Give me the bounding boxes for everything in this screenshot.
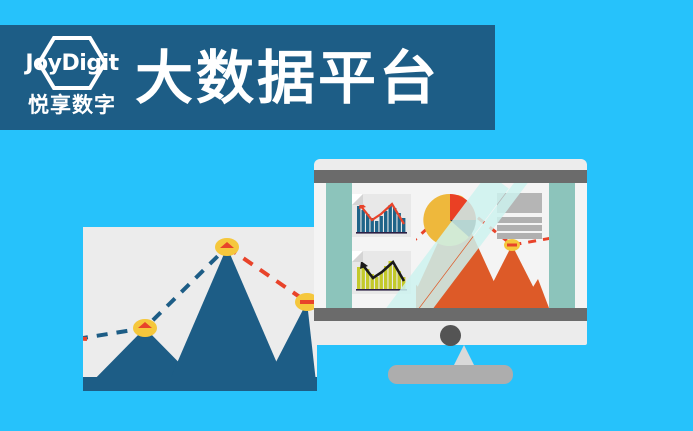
logo-chinese-text: 悦享数字 (14, 89, 130, 119)
chart-axis-line (356, 289, 407, 291)
placeholder-line (497, 233, 542, 239)
chart-axis-line (356, 232, 407, 234)
mountain-line-chart-panel (83, 227, 317, 391)
monitor-screen (314, 183, 587, 308)
yellow-bar-chart (352, 251, 411, 294)
mountain-base-fill (83, 377, 317, 391)
header-banner: JoyDigit 悦享数字 大数据平台 (0, 25, 495, 130)
placeholder-line (497, 225, 542, 231)
bar-chart-card-blue (352, 194, 411, 237)
trend-dashed-red-tail (83, 338, 87, 339)
monitor-top-bar (314, 170, 587, 183)
page-title: 大数据平台 (135, 47, 440, 109)
monitor-indicator-dot (440, 325, 461, 346)
placeholder-image (497, 193, 542, 213)
blue-bar-chart (352, 194, 411, 237)
screen-sidebar-right (549, 183, 575, 308)
logo-latin-text: JoyDigit (14, 51, 130, 76)
monitor-stand-base (388, 365, 513, 384)
monitor-bottom-bar (314, 308, 587, 321)
placeholder-line (497, 217, 542, 223)
pie-chart (422, 192, 478, 248)
illustration-canvas: JoyDigit 悦享数字 大数据平台 (0, 0, 693, 431)
mountain-shape-main (165, 247, 289, 391)
desktop-monitor (314, 159, 587, 345)
bar-chart-card-yellow (352, 251, 411, 294)
screen-sidebar-left (326, 183, 352, 308)
gray-placeholder-block (497, 193, 542, 235)
brand-logo: JoyDigit 悦享数字 (14, 33, 130, 123)
left-mountain-chart (83, 227, 317, 391)
pie-slice-red (450, 194, 476, 220)
